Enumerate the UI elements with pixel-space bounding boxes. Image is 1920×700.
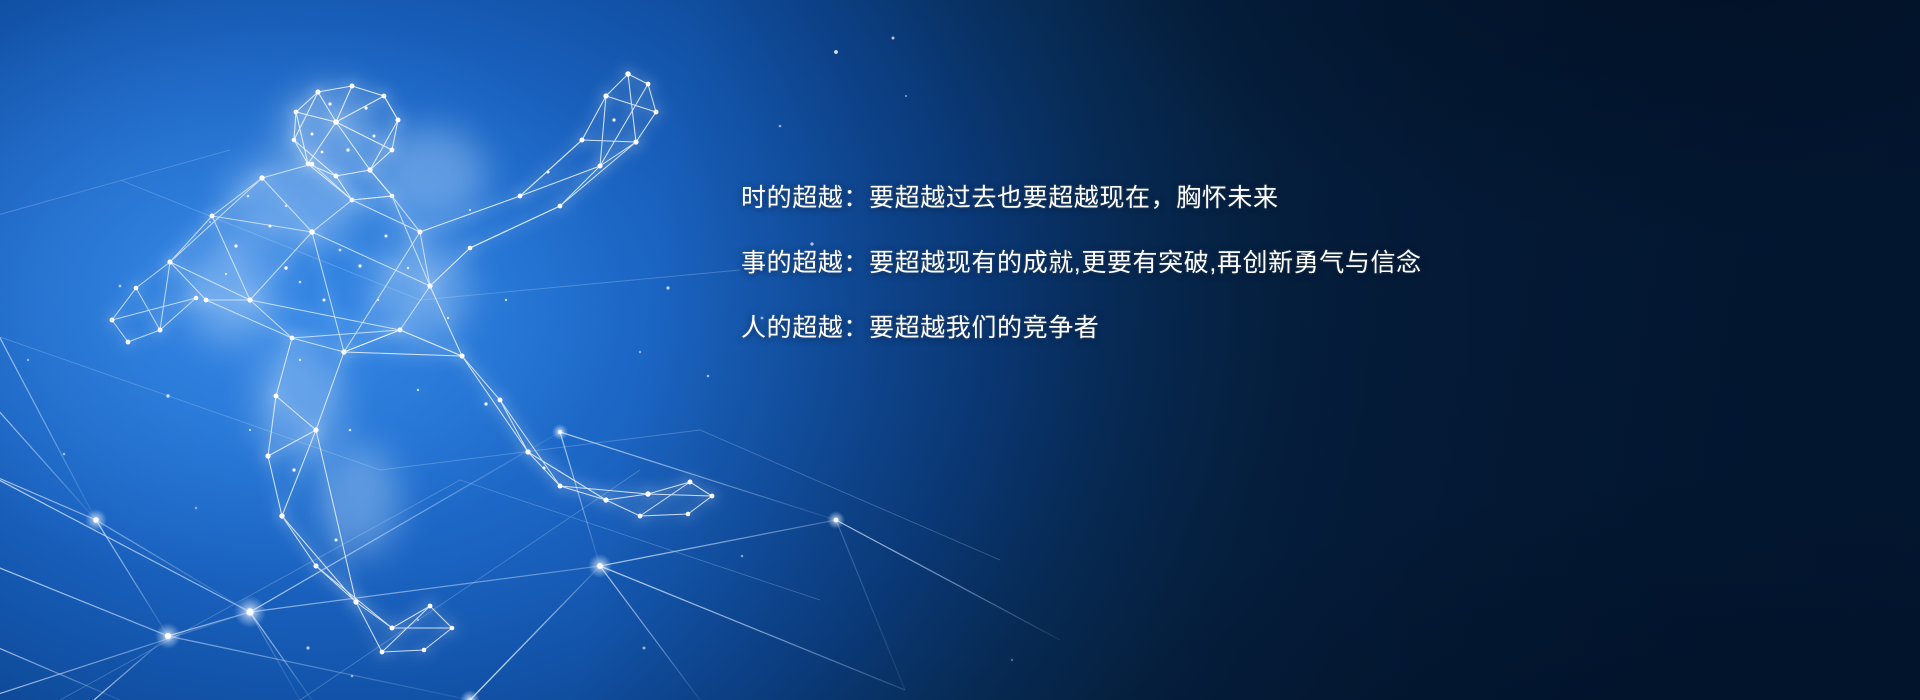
slogan-line-matter: 事的超越：要超越现有的成就,更要有突破,再创新勇气与信念 [741, 251, 1521, 276]
hero-banner: 时的超越：要超越过去也要超越现在，胸怀未来 事的超越：要超越现有的成就,更要有突… [0, 0, 1920, 700]
background-bottom-right-shade [0, 0, 1920, 700]
slogan-text-block: 时的超越：要超越过去也要超越现在，胸怀未来 事的超越：要超越现有的成就,更要有突… [741, 186, 1521, 341]
slogan-line-people: 人的超越：要超越我们的竞争者 [741, 316, 1521, 341]
slogan-line-time: 时的超越：要超越过去也要超越现在，胸怀未来 [741, 186, 1521, 211]
